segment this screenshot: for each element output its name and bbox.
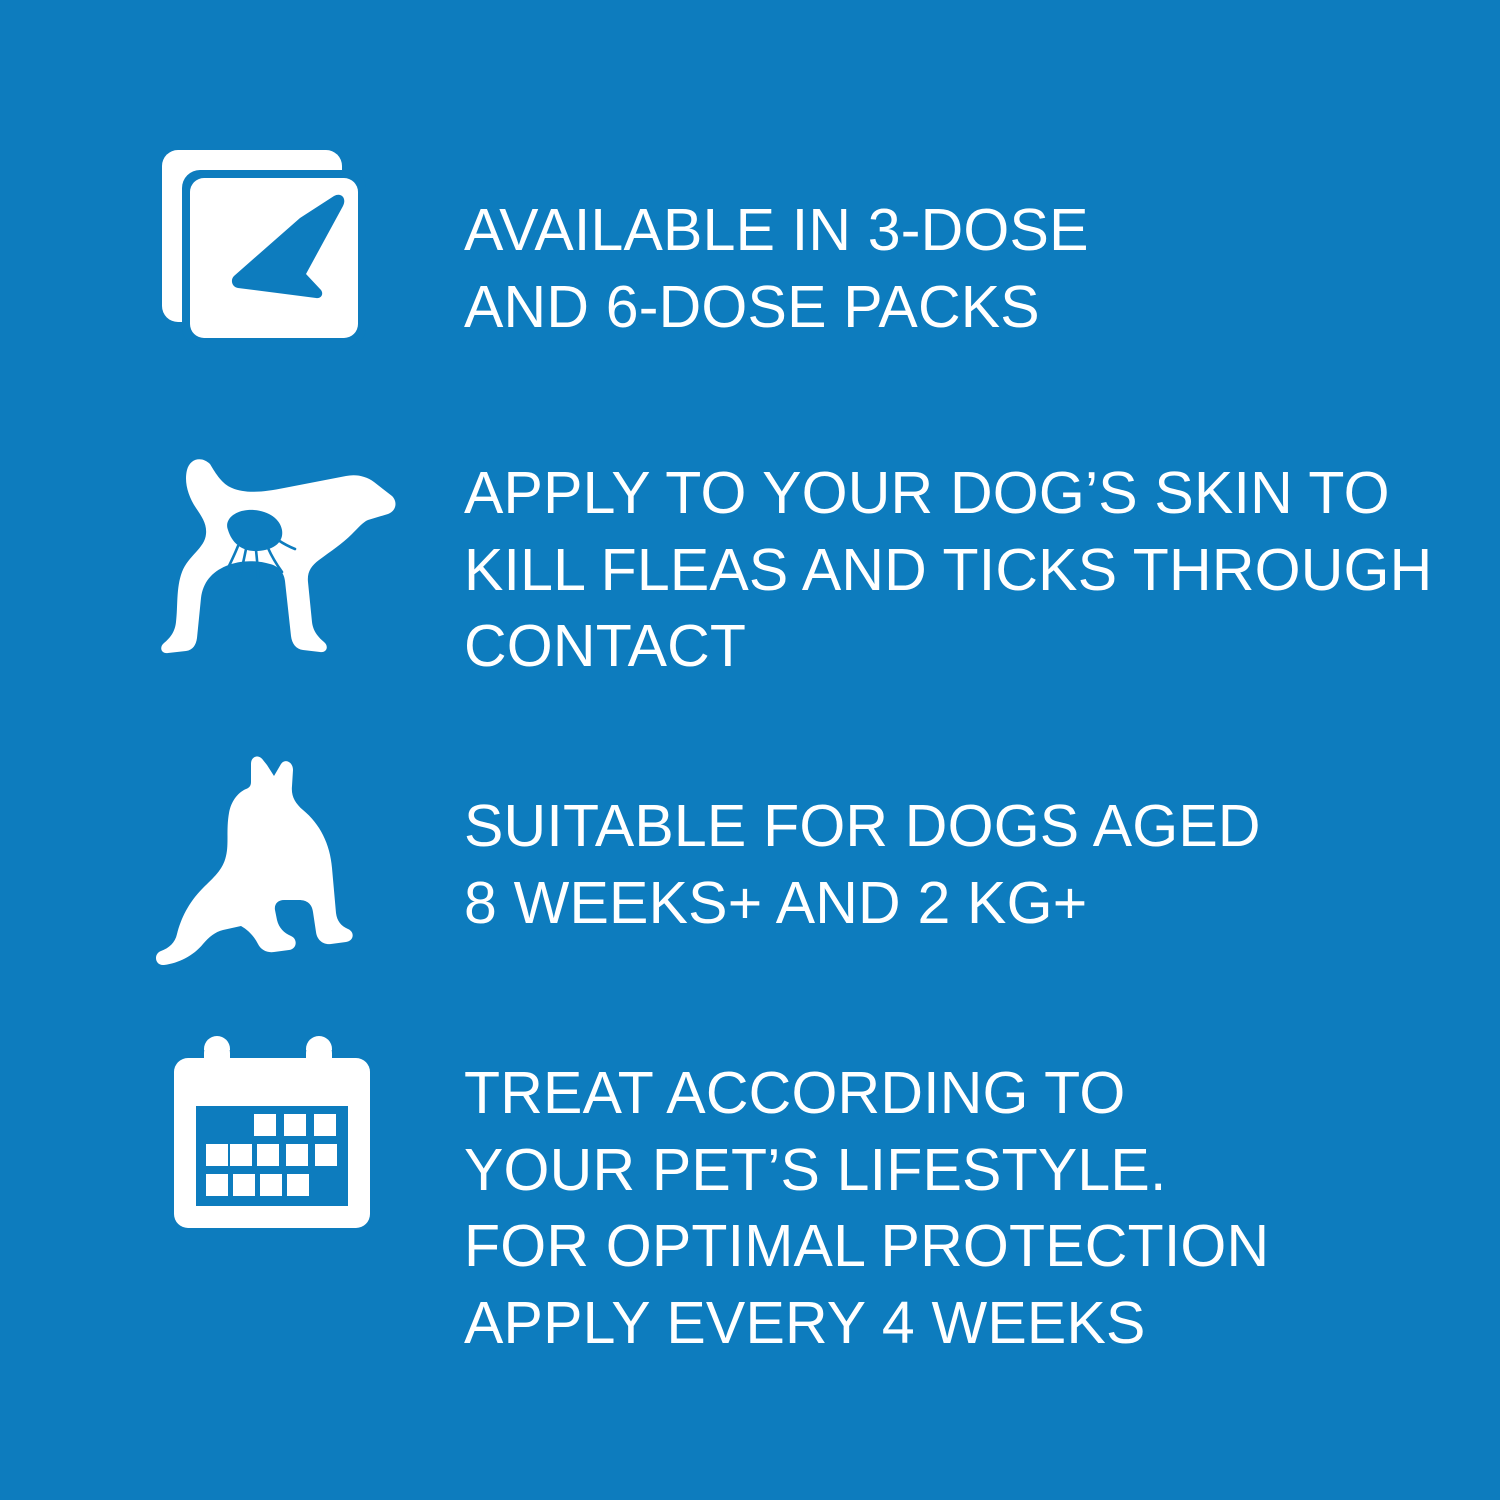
dose-pack-icon [160, 148, 390, 358]
feature-line: APPLY TO YOUR DOG’S SKIN TO [464, 455, 1432, 532]
dog-with-flea-icon [152, 448, 402, 663]
feature-line: YOUR PET’S LIFESTYLE. [464, 1132, 1269, 1209]
feature-line: AVAILABLE IN 3-DOSE [464, 192, 1089, 269]
feature-line: APPLY EVERY 4 WEEKS [464, 1285, 1269, 1362]
feature-line: CONTACT [464, 608, 1432, 685]
feature-line: 8 WEEKS+ AND 2 KG+ [464, 865, 1261, 942]
feature-text-3: SUITABLE FOR DOGS AGED 8 WEEKS+ AND 2 KG… [464, 788, 1261, 941]
feature-line: TREAT ACCORDING TO [464, 1055, 1269, 1132]
feature-text-4: TREAT ACCORDING TO YOUR PET’S LIFESTYLE.… [464, 1055, 1269, 1362]
feature-line: SUITABLE FOR DOGS AGED [464, 788, 1261, 865]
feature-line: FOR OPTIMAL PROTECTION [464, 1208, 1269, 1285]
calendar-icon [168, 1036, 378, 1231]
sitting-puppy-icon [155, 752, 385, 992]
feature-text-2: APPLY TO YOUR DOG’S SKIN TO KILL FLEAS A… [464, 455, 1432, 685]
feature-line: AND 6-DOSE PACKS [464, 269, 1089, 346]
product-benefits-infographic: AVAILABLE IN 3-DOSE AND 6-DOSE PACKS [0, 0, 1500, 1500]
feature-text-1: AVAILABLE IN 3-DOSE AND 6-DOSE PACKS [464, 192, 1089, 345]
feature-line: KILL FLEAS AND TICKS THROUGH [464, 532, 1432, 609]
